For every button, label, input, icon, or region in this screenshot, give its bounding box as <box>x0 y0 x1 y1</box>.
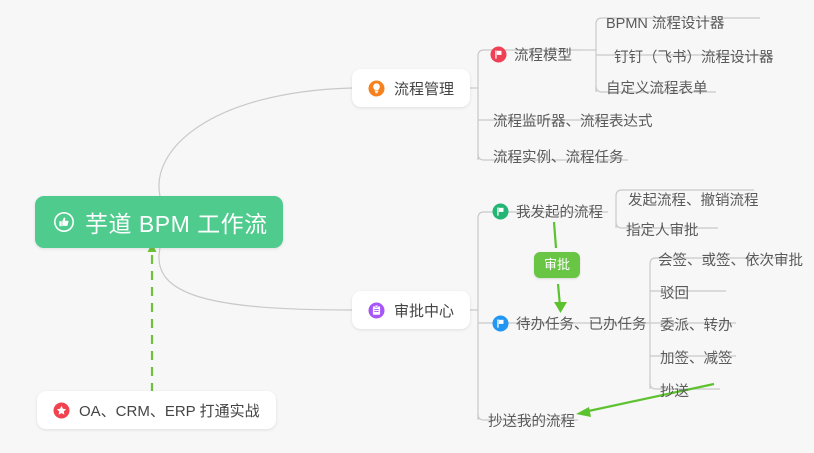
topic-label: 我发起的流程 <box>516 201 603 222</box>
approval-chip-label: 审批 <box>544 257 570 272</box>
link-root-to-process-management <box>159 88 352 196</box>
branch-label: 流程管理 <box>394 78 454 99</box>
root-label: 芋道 BPM 工作流 <box>85 205 268 239</box>
mindmap-canvas: 芋道 BPM 工作流 流程管理 流程模型 BPMN 流程设计器 钉钉（飞书）流程… <box>0 0 814 453</box>
flag-icon <box>492 203 509 220</box>
leaf-process-instance[interactable]: 流程实例、流程任务 <box>491 143 626 169</box>
root-node[interactable]: 芋道 BPM 工作流 <box>35 196 283 248</box>
bottom-card-integration[interactable]: OA、CRM、ERP 打通实战 <box>37 391 276 429</box>
link-todo-corner-bottom <box>650 383 656 389</box>
leaf-assignee-approval[interactable]: 指定人审批 <box>624 216 701 242</box>
topic-label: 待办任务、已办任务 <box>516 313 647 334</box>
topic-todo-done-tasks[interactable]: 待办任务、已办任务 <box>492 310 647 336</box>
link-ac-corner-top <box>478 212 484 218</box>
leaf-cc-to-me-process[interactable]: 抄送我的流程 <box>486 407 577 433</box>
leaf-countersign[interactable]: 会签、或签、依次审批 <box>656 246 805 272</box>
link-ac-corner-bottom <box>478 414 484 420</box>
link-pm-corner-bottom <box>478 154 484 160</box>
topic-process-model[interactable]: 流程模型 <box>490 41 572 67</box>
star-icon <box>53 402 70 419</box>
approval-chip[interactable]: 审批 <box>534 252 580 278</box>
link-model-corner-bottom <box>596 86 602 92</box>
link-started-corner-bottom <box>616 222 622 228</box>
leaf-reject[interactable]: 驳回 <box>658 279 691 305</box>
leaf-start-cancel-process[interactable]: 发起流程、撤销流程 <box>626 186 761 212</box>
bottom-card-label: OA、CRM、ERP 打通实战 <box>79 400 260 421</box>
leaf-custom-form[interactable]: 自定义流程表单 <box>604 74 710 100</box>
thumbs-up-icon <box>53 211 75 233</box>
leaf-cc[interactable]: 抄送 <box>658 377 691 403</box>
link-pm-corner-top <box>478 50 484 56</box>
branch-approval-center[interactable]: 审批中心 <box>352 291 470 329</box>
flag-icon <box>490 46 507 63</box>
branch-label: 审批中心 <box>394 300 454 321</box>
lightbulb-icon <box>368 80 385 97</box>
leaf-add-remove-sign[interactable]: 加签、减签 <box>658 344 735 370</box>
link-bottom-card-to-root <box>148 243 157 392</box>
topic-label: 流程模型 <box>514 44 572 65</box>
flag-icon <box>492 315 509 332</box>
leaf-delegate-transfer[interactable]: 委派、转办 <box>658 311 735 337</box>
leaf-dingtalk-designer[interactable]: 钉钉（飞书）流程设计器 <box>612 43 776 69</box>
link-model-corner-top <box>596 18 602 24</box>
link-root-to-approval-center <box>159 248 352 310</box>
link-started-corner-top <box>616 190 622 196</box>
leaf-bpmn-designer[interactable]: BPMN 流程设计器 <box>604 9 726 35</box>
leaf-process-listener[interactable]: 流程监听器、流程表达式 <box>491 107 655 133</box>
branch-process-management[interactable]: 流程管理 <box>352 69 470 107</box>
arrow-cc-flow <box>576 384 714 417</box>
topic-my-started-process[interactable]: 我发起的流程 <box>492 198 603 224</box>
clipboard-icon <box>368 302 385 319</box>
